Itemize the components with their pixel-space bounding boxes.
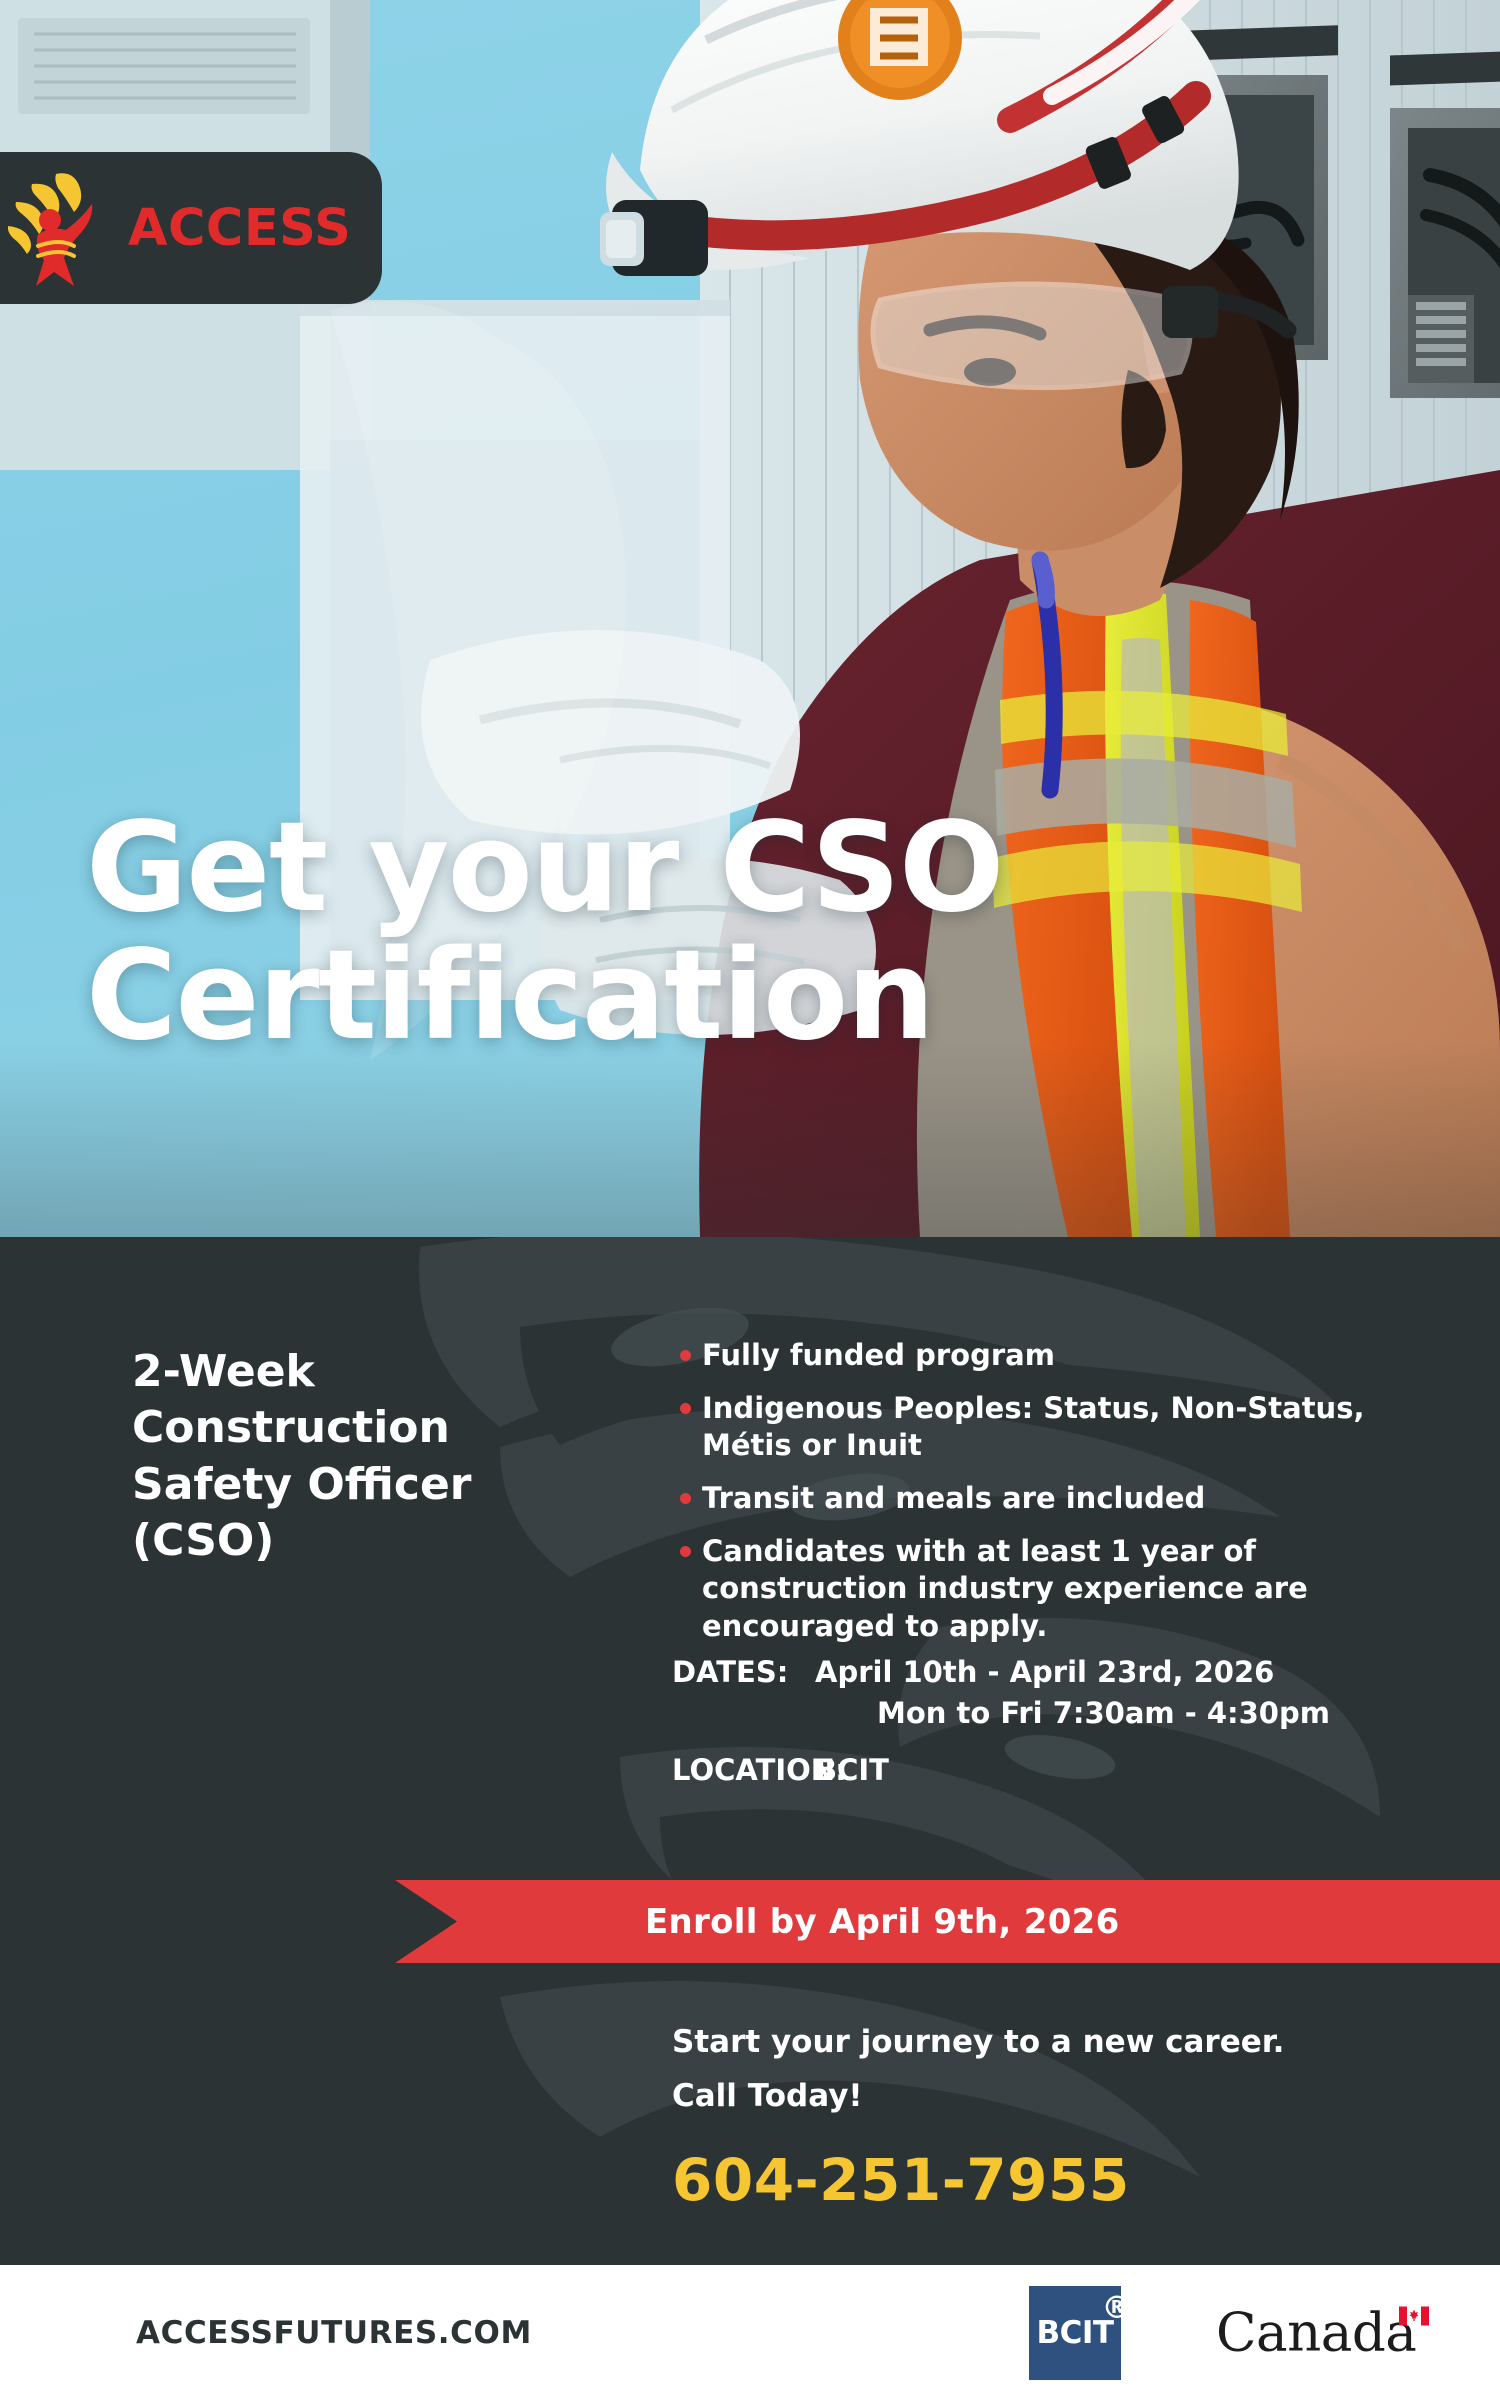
program-title-line-3: Safety Officer xyxy=(132,1457,552,1513)
bcit-logo: BCIT ® xyxy=(1029,2286,1121,2380)
program-title-line-1: 2-Week xyxy=(132,1344,552,1400)
headline-line-2: Certification xyxy=(86,933,1406,1061)
list-item: Candidates with at least 1 year of const… xyxy=(672,1533,1462,1646)
enroll-deadline-banner: Enroll by April 9th, 2026 xyxy=(395,1880,1500,1963)
time-row: Mon to Fri 7:30am - 4:30pm xyxy=(672,1693,1462,1734)
bullet-text: Indigenous Peoples: Status, Non-Status, … xyxy=(702,1391,1364,1463)
dates-row: DATES: April 10th - April 23rd, 2026 xyxy=(672,1652,1462,1693)
program-title: 2-Week Construction Safety Officer (CSO) xyxy=(132,1344,552,1569)
page-title: Get your CSO Certification xyxy=(86,805,1406,1060)
bullet-dot-icon xyxy=(680,1493,691,1504)
bullet-text: Transit and meals are included xyxy=(702,1481,1205,1515)
list-item: Indigenous Peoples: Status, Non-Status, … xyxy=(672,1390,1462,1465)
canada-label: Canada xyxy=(1216,2302,1416,2363)
dates-value: April 10th - April 23rd, 2026 xyxy=(815,1652,1462,1693)
schedule-block: DATES: April 10th - April 23rd, 2026 Mon… xyxy=(672,1652,1462,1792)
list-item: Transit and meals are included xyxy=(672,1480,1462,1518)
cta-line-2: Call Today! xyxy=(672,2069,1472,2123)
list-item: Fully funded program xyxy=(672,1337,1462,1375)
location-value: BCIT xyxy=(815,1750,1462,1791)
access-logo-badge[interactable]: ACCESS xyxy=(0,152,382,304)
headline-line-1: Get your CSO xyxy=(86,805,1406,933)
location-row: LOCATION: BCIT xyxy=(672,1750,1462,1791)
call-to-action: Start your journey to a new career. Call… xyxy=(672,2015,1472,2214)
access-dancer-feathers-icon xyxy=(8,168,128,288)
time-value: Mon to Fri 7:30am - 4:30pm xyxy=(815,1693,1462,1734)
program-title-line-4: (CSO) xyxy=(132,1513,552,1569)
bullet-text: Candidates with at least 1 year of const… xyxy=(702,1534,1308,1643)
poster: Get your CSO Certification ACCESS xyxy=(0,0,1500,2400)
enroll-deadline-text: Enroll by April 9th, 2026 xyxy=(645,1902,1120,1942)
program-title-line-2: Construction xyxy=(132,1400,552,1456)
phone-number[interactable]: 604-251-7955 xyxy=(672,2146,1472,2214)
canada-wordmark-logo: Canada xyxy=(1216,2302,1429,2363)
cta-line-1: Start your journey to a new career. xyxy=(672,2015,1472,2069)
website-link[interactable]: ACCESSFUTURES.COM xyxy=(136,2315,532,2351)
footer: ACCESSFUTURES.COM BCIT ® Canada xyxy=(0,2265,1500,2400)
eligibility-bullet-list: Fully funded program Indigenous Peoples:… xyxy=(672,1337,1462,1661)
bcit-registered-icon: ® xyxy=(1102,2290,1133,2326)
bullet-text: Fully funded program xyxy=(702,1338,1055,1372)
bullet-dot-icon xyxy=(680,1403,691,1414)
dates-label: DATES: xyxy=(672,1652,815,1693)
access-wordmark: ACCESS xyxy=(128,199,351,258)
canada-flag-icon xyxy=(1399,2306,1429,2325)
bullet-dot-icon xyxy=(680,1546,691,1557)
bullet-dot-icon xyxy=(680,1350,691,1361)
location-label: LOCATION: xyxy=(672,1750,815,1791)
